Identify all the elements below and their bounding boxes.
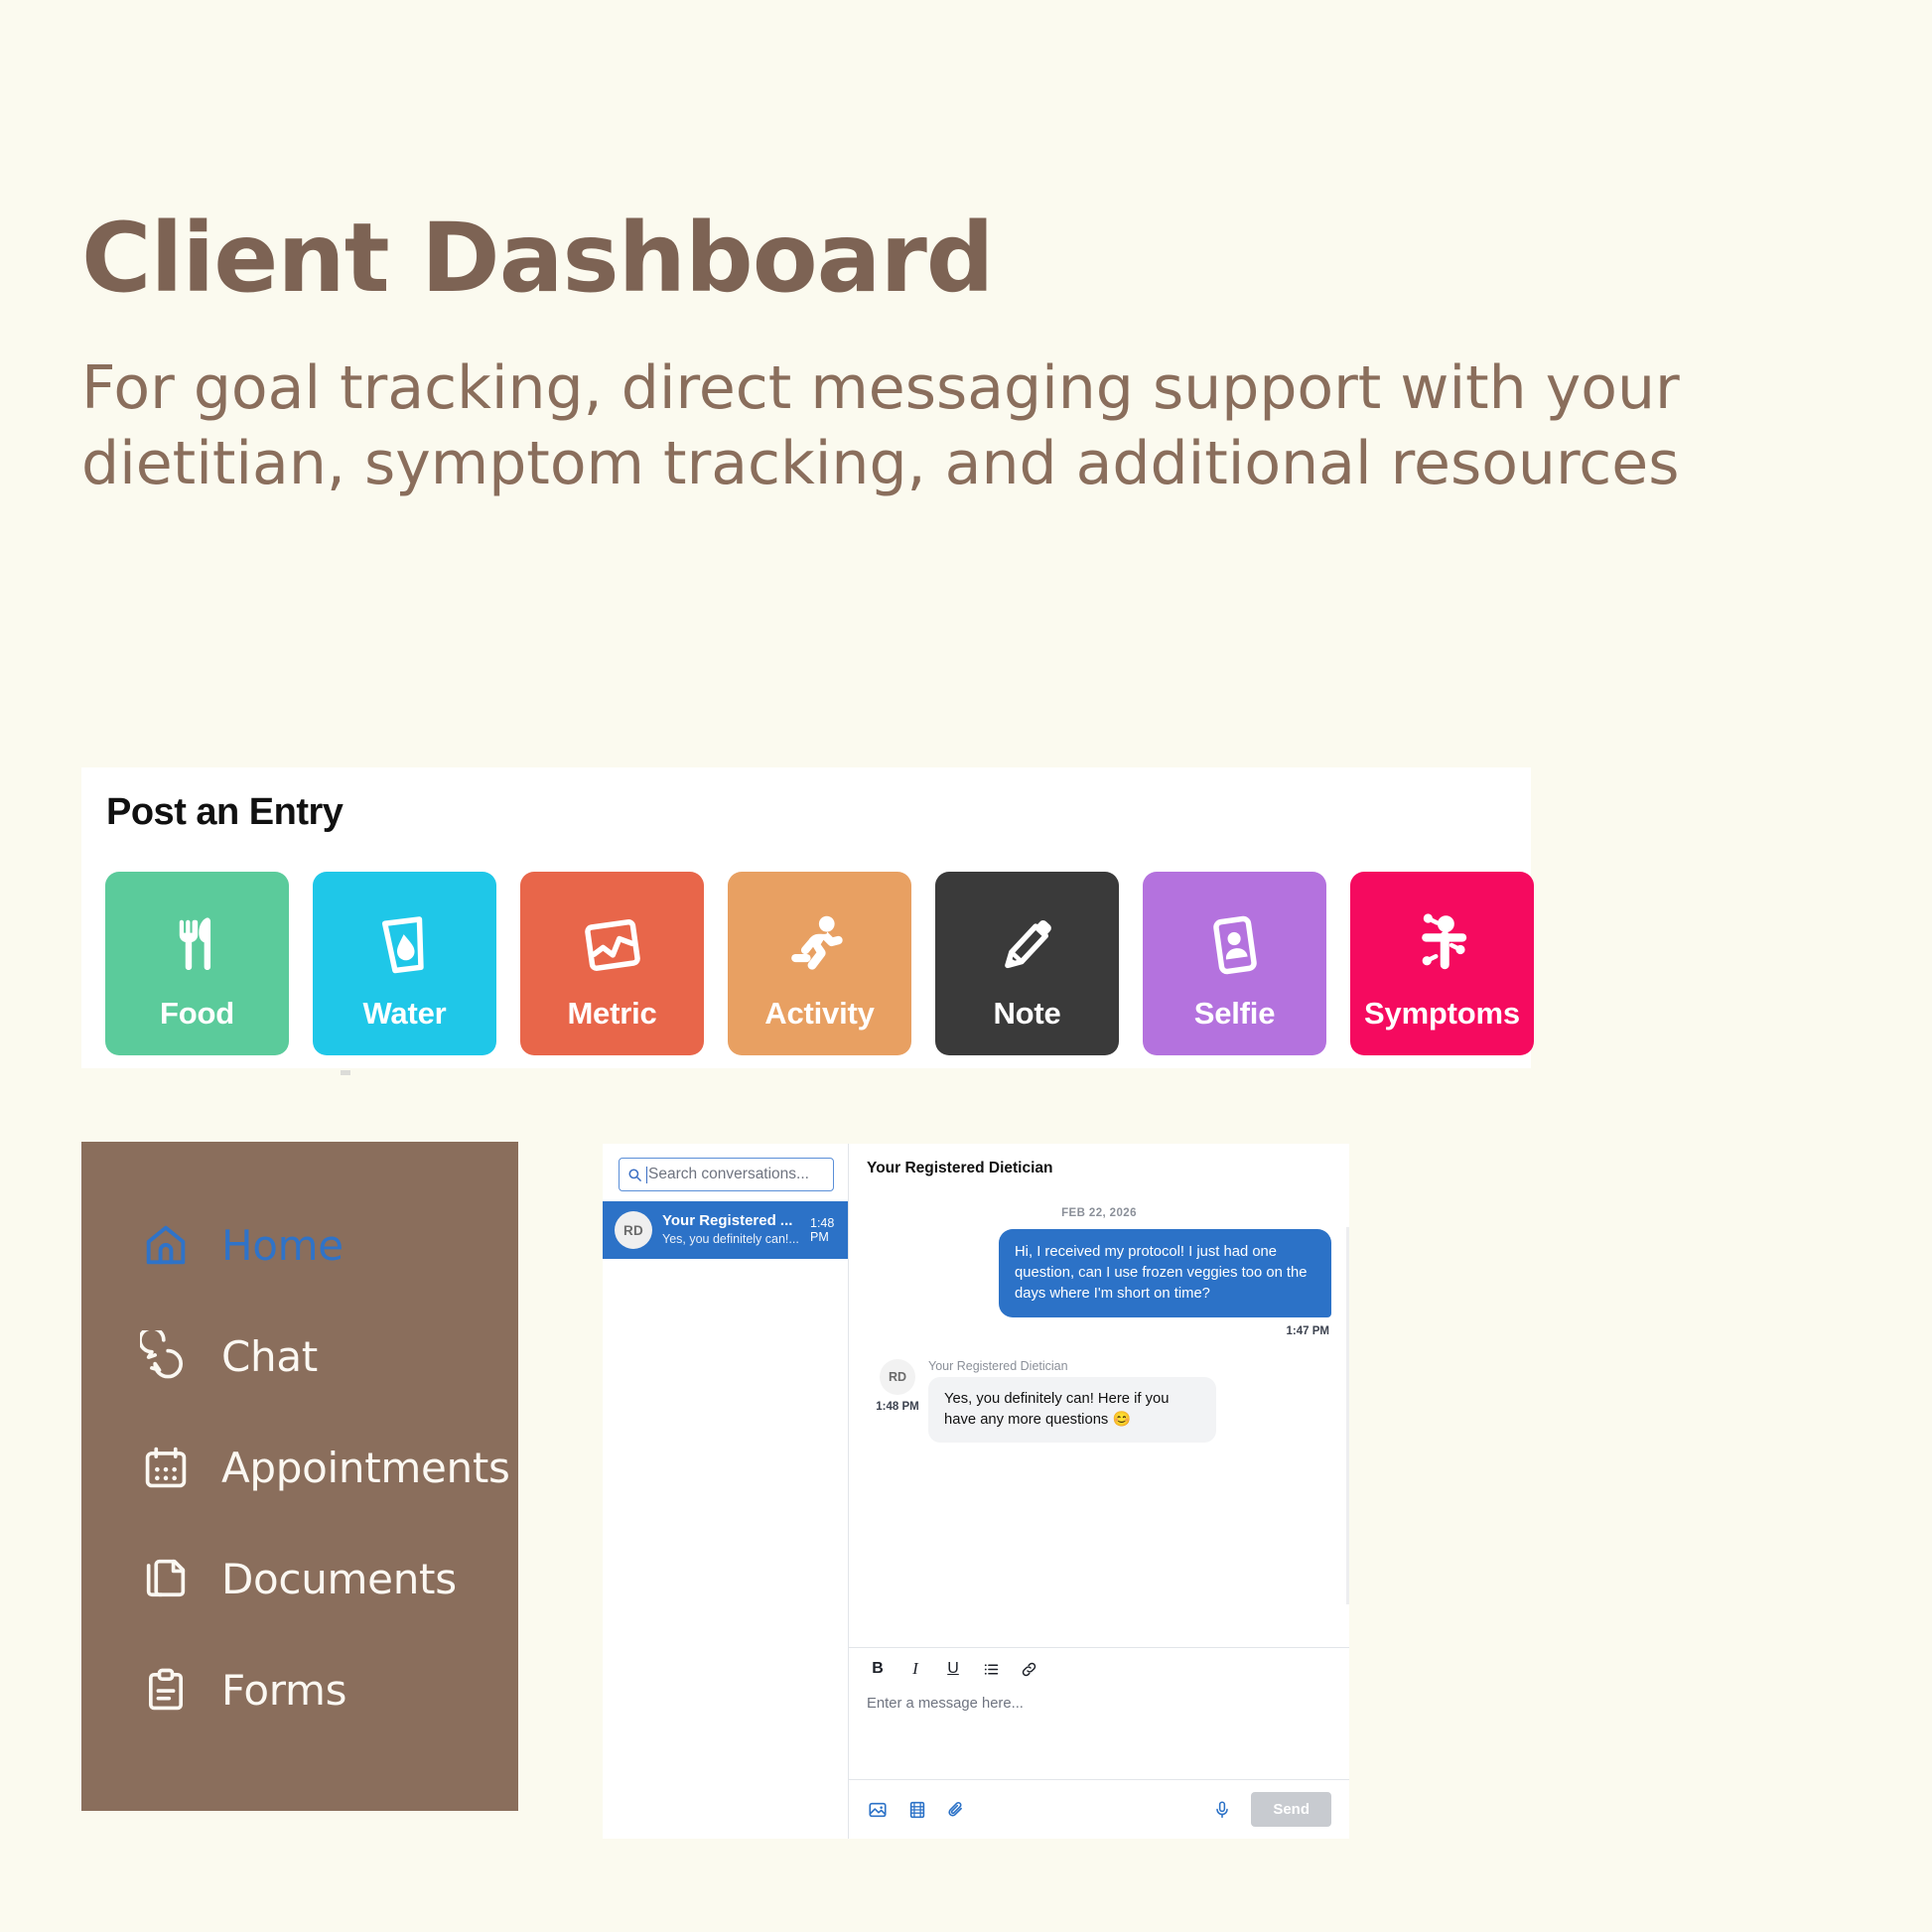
entry-tile-water[interactable]: Water bbox=[313, 872, 496, 1055]
sidebar-item-chat[interactable]: Chat bbox=[81, 1301, 518, 1412]
entry-tile-label: Note bbox=[993, 996, 1060, 1032]
sidebar-item-label: Documents bbox=[221, 1555, 457, 1603]
message-composer: B I U bbox=[849, 1647, 1349, 1839]
post-an-entry-title: Post an Entry bbox=[106, 791, 343, 834]
sidebar-item-label: Chat bbox=[221, 1332, 318, 1381]
conversation-list-item[interactable]: RD Your Registered ... Yes, you definite… bbox=[603, 1201, 848, 1259]
entry-tile-label: Activity bbox=[764, 996, 874, 1032]
entry-tile-metric[interactable]: Metric bbox=[520, 872, 704, 1055]
sidebar-item-appointments[interactable]: Appointments bbox=[81, 1412, 518, 1523]
formatting-toolbar: B I U bbox=[849, 1648, 1349, 1688]
running-person-icon bbox=[777, 902, 863, 988]
entry-tile-activity[interactable]: Activity bbox=[728, 872, 911, 1055]
italic-icon[interactable]: I bbox=[904, 1658, 926, 1680]
avatar: RD bbox=[615, 1211, 652, 1249]
message-thread-panel: Your Registered Dietician FEB 22, 2026 H… bbox=[849, 1144, 1349, 1839]
post-an-entry-card: Post an Entry Food bbox=[81, 767, 1531, 1068]
composer-action-bar: Send bbox=[849, 1779, 1349, 1839]
page-root: Client Dashboard For goal tracking, dire… bbox=[0, 0, 1932, 1932]
message-bubble: Yes, you definitely can! Here if you hav… bbox=[928, 1377, 1216, 1443]
link-icon[interactable] bbox=[1018, 1658, 1039, 1680]
card-artifact bbox=[341, 1070, 350, 1075]
conversation-list-panel: Search conversations... RD Your Register… bbox=[603, 1144, 849, 1839]
documents-icon bbox=[138, 1551, 194, 1606]
portrait-card-icon bbox=[1192, 902, 1278, 988]
sidebar-nav: Home Chat bbox=[81, 1142, 518, 1811]
video-icon[interactable] bbox=[906, 1799, 928, 1821]
message-sender-name: Your Registered Dietician bbox=[928, 1359, 1331, 1373]
message-input-placeholder: Enter a message here... bbox=[867, 1696, 1024, 1712]
thread-messages: FEB 22, 2026 Hi, I received my protocol!… bbox=[849, 1187, 1349, 1647]
send-button[interactable]: Send bbox=[1251, 1792, 1331, 1827]
fork-knife-icon bbox=[155, 902, 240, 988]
entry-tile-row: Food Water bbox=[105, 872, 1534, 1055]
message-bubble: Hi, I received my protocol! I just had o… bbox=[999, 1229, 1331, 1317]
message-outgoing: Hi, I received my protocol! I just had o… bbox=[867, 1229, 1331, 1317]
date-divider: FEB 22, 2026 bbox=[867, 1207, 1331, 1219]
microphone-icon[interactable] bbox=[1211, 1799, 1233, 1821]
sidebar-item-forms[interactable]: Forms bbox=[81, 1634, 518, 1745]
page-title: Client Dashboard bbox=[81, 210, 1829, 306]
entry-tile-symptoms[interactable]: Symptoms bbox=[1350, 872, 1534, 1055]
thread-title: Your Registered Dietician bbox=[849, 1144, 1349, 1187]
message-timestamp: 1:48 PM bbox=[876, 1401, 918, 1413]
entry-tile-label: Food bbox=[160, 996, 234, 1032]
message-input[interactable]: Enter a message here... bbox=[849, 1688, 1349, 1779]
hero-section: Client Dashboard For goal tracking, dire… bbox=[81, 210, 1829, 501]
search-wrapper: Search conversations... bbox=[603, 1144, 848, 1201]
entry-tile-food[interactable]: Food bbox=[105, 872, 289, 1055]
image-icon[interactable] bbox=[867, 1799, 889, 1821]
underline-icon[interactable]: U bbox=[942, 1658, 964, 1680]
avatar: RD bbox=[880, 1359, 915, 1395]
sidebar-item-label: Forms bbox=[221, 1666, 346, 1715]
bold-icon[interactable]: B bbox=[867, 1658, 889, 1680]
conversation-text: Your Registered ... Yes, you definitely … bbox=[662, 1212, 806, 1248]
chart-frame-icon bbox=[570, 902, 655, 988]
conversation-timestamp: 1:48 PM bbox=[810, 1216, 840, 1245]
message-incoming: RD 1:48 PM Your Registered Dietician Yes… bbox=[867, 1359, 1331, 1443]
chat-bubbles-icon bbox=[138, 1328, 194, 1384]
search-input[interactable]: Search conversations... bbox=[619, 1158, 834, 1191]
entry-tile-label: Metric bbox=[567, 996, 656, 1032]
sidebar-item-label: Home bbox=[221, 1221, 344, 1270]
message-meta: RD 1:48 PM bbox=[867, 1359, 928, 1443]
search-icon bbox=[627, 1168, 643, 1182]
entry-tile-label: Selfie bbox=[1194, 996, 1276, 1032]
sidebar-item-documents[interactable]: Documents bbox=[81, 1523, 518, 1634]
text-caret bbox=[646, 1167, 647, 1183]
search-placeholder: Search conversations... bbox=[648, 1166, 809, 1183]
clipboard-icon bbox=[138, 1662, 194, 1718]
bulleted-list-icon[interactable] bbox=[980, 1658, 1002, 1680]
paperclip-icon[interactable] bbox=[946, 1799, 968, 1821]
sidebar-item-home[interactable]: Home bbox=[81, 1189, 518, 1301]
pencil-icon bbox=[985, 902, 1070, 988]
message-content: Your Registered Dietician Yes, you defin… bbox=[928, 1359, 1331, 1443]
message-timestamp: 1:47 PM bbox=[867, 1325, 1331, 1337]
chat-application: Search conversations... RD Your Register… bbox=[603, 1144, 1349, 1839]
entry-tile-note[interactable]: Note bbox=[935, 872, 1119, 1055]
entry-tile-selfie[interactable]: Selfie bbox=[1143, 872, 1326, 1055]
home-icon bbox=[138, 1217, 194, 1273]
entry-tile-label: Symptoms bbox=[1364, 996, 1520, 1032]
thread-scrollbar[interactable] bbox=[1346, 1227, 1349, 1604]
page-subtitle: For goal tracking, direct messaging supp… bbox=[81, 351, 1799, 501]
body-symptoms-icon bbox=[1400, 902, 1485, 988]
calendar-icon bbox=[138, 1440, 194, 1495]
entry-tile-label: Water bbox=[363, 996, 447, 1032]
conversation-preview: Yes, you definitely can!... bbox=[662, 1232, 799, 1246]
sidebar-item-label: Appointments bbox=[221, 1444, 510, 1492]
water-glass-icon bbox=[362, 902, 448, 988]
conversation-name: Your Registered ... bbox=[662, 1212, 792, 1229]
